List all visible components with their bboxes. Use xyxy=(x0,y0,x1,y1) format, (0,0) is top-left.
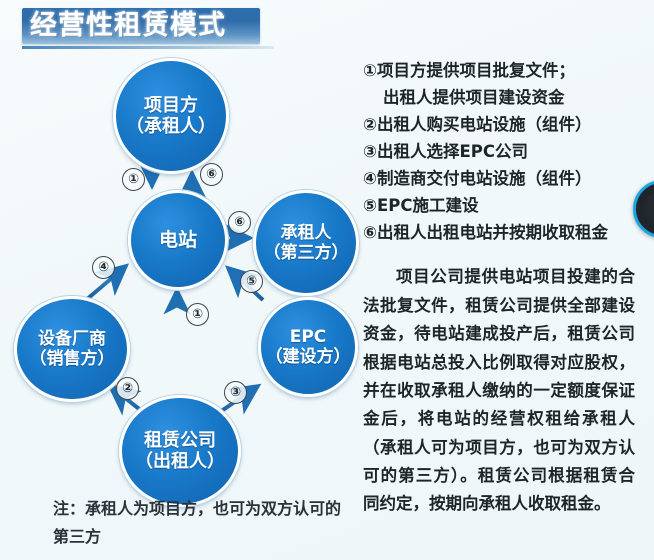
edge-label-leasing-to-station: ① xyxy=(186,303,209,326)
node-project-party-line1: 项目方 xyxy=(126,95,216,116)
step-list: ①项目方提供项目批复文件； 出租人提供项目建设资金 ②出租人购买电站设施（组件）… xyxy=(363,58,638,246)
step-item-1: ①项目方提供项目批复文件； xyxy=(363,58,638,84)
edge-label-station-to-project: ⑥ xyxy=(200,163,223,186)
page-title: 经营性租赁模式 xyxy=(30,10,310,42)
edge-label-vendor-to-station: ④ xyxy=(92,256,115,279)
node-lessee-third-party[interactable]: 承租人 （第三方） xyxy=(253,190,359,296)
node-project-party[interactable]: 项目方 （承租人） xyxy=(113,58,229,174)
edge-label-station-to-lessee: ⑥ xyxy=(228,211,251,234)
node-power-station[interactable]: 电站 xyxy=(128,190,228,290)
node-epc-builder[interactable]: EPC （建设方） xyxy=(258,297,358,397)
explanation-column: ①项目方提供项目批复文件； 出租人提供项目建设资金 ②出租人购买电站设施（组件）… xyxy=(363,58,638,519)
step-6-num: ⑥ xyxy=(363,223,377,242)
diagram-footnote: 注：承租人为项目方，也可为双方认可的第三方 xyxy=(53,495,343,551)
step-5-num: ⑤ xyxy=(363,196,377,215)
node-equipment-vendor[interactable]: 设备厂商 （销售方） xyxy=(14,296,130,402)
node-lessee-third-party-line1: 承租人 xyxy=(264,223,349,243)
step-1-num: ① xyxy=(363,61,377,80)
step-3-num: ③ xyxy=(363,142,377,161)
step-item-4: ④制造商交付电站设施（组件） xyxy=(363,166,638,192)
step-1-text: 项目方提供项目批复文件； xyxy=(377,61,575,80)
step-2-text: 出租人购买电站设施（组件） xyxy=(377,115,592,134)
step-item-2: ②出租人购买电站设施（组件） xyxy=(363,112,638,138)
explanation-paragraph: 项目公司提供电站项目投建的合法批复文件，租赁公司提供全部建设资金，待电站建成投产… xyxy=(363,263,635,518)
node-equipment-vendor-line1: 设备厂商 xyxy=(30,329,115,349)
diagram-page: 经营性租赁模式 项目方 （承租人） xyxy=(0,0,654,560)
edge-watermark-badge-inner xyxy=(644,191,654,227)
node-project-party-line2: （承租人） xyxy=(126,116,216,137)
step-2-num: ② xyxy=(363,115,377,134)
step-item-5: ⑤EPC施工建设 xyxy=(363,193,638,219)
node-epc-builder-line2: （建设方） xyxy=(266,347,351,367)
edge-label-leasing-to-vendor: ② xyxy=(116,377,139,400)
node-epc-builder-line1: EPC xyxy=(266,327,351,347)
step-item-3: ③出租人选择EPC公司 xyxy=(363,139,638,165)
step-4-num: ④ xyxy=(363,169,377,188)
step-item-6: ⑥出租人出租电站并按期收取租金 xyxy=(363,220,638,246)
step-6-text: 出租人出租电站并按期收取租金 xyxy=(377,223,608,242)
node-power-station-line1: 电站 xyxy=(159,229,197,251)
step-item-1-cont: 出租人提供项目建设资金 xyxy=(363,85,638,111)
node-leasing-company[interactable]: 租赁公司 （出租人） xyxy=(119,395,241,507)
title-underline xyxy=(22,46,274,49)
node-lessee-third-party-line2: （第三方） xyxy=(264,243,349,263)
edge-label-leasing-to-epc: ③ xyxy=(224,381,247,404)
node-leasing-company-line1: 租赁公司 xyxy=(135,430,225,451)
node-leasing-company-line2: （出租人） xyxy=(135,451,225,472)
node-equipment-vendor-line2: （销售方） xyxy=(30,349,115,369)
step-3-text: 出租人选择EPC公司 xyxy=(377,142,528,161)
step-4-text: 制造商交付电站设施（组件） xyxy=(377,169,592,188)
edge-label-project-to-station: ① xyxy=(122,168,145,191)
edge-label-epc-to-station: ⑤ xyxy=(240,270,263,293)
step-5-text: EPC施工建设 xyxy=(377,196,478,215)
